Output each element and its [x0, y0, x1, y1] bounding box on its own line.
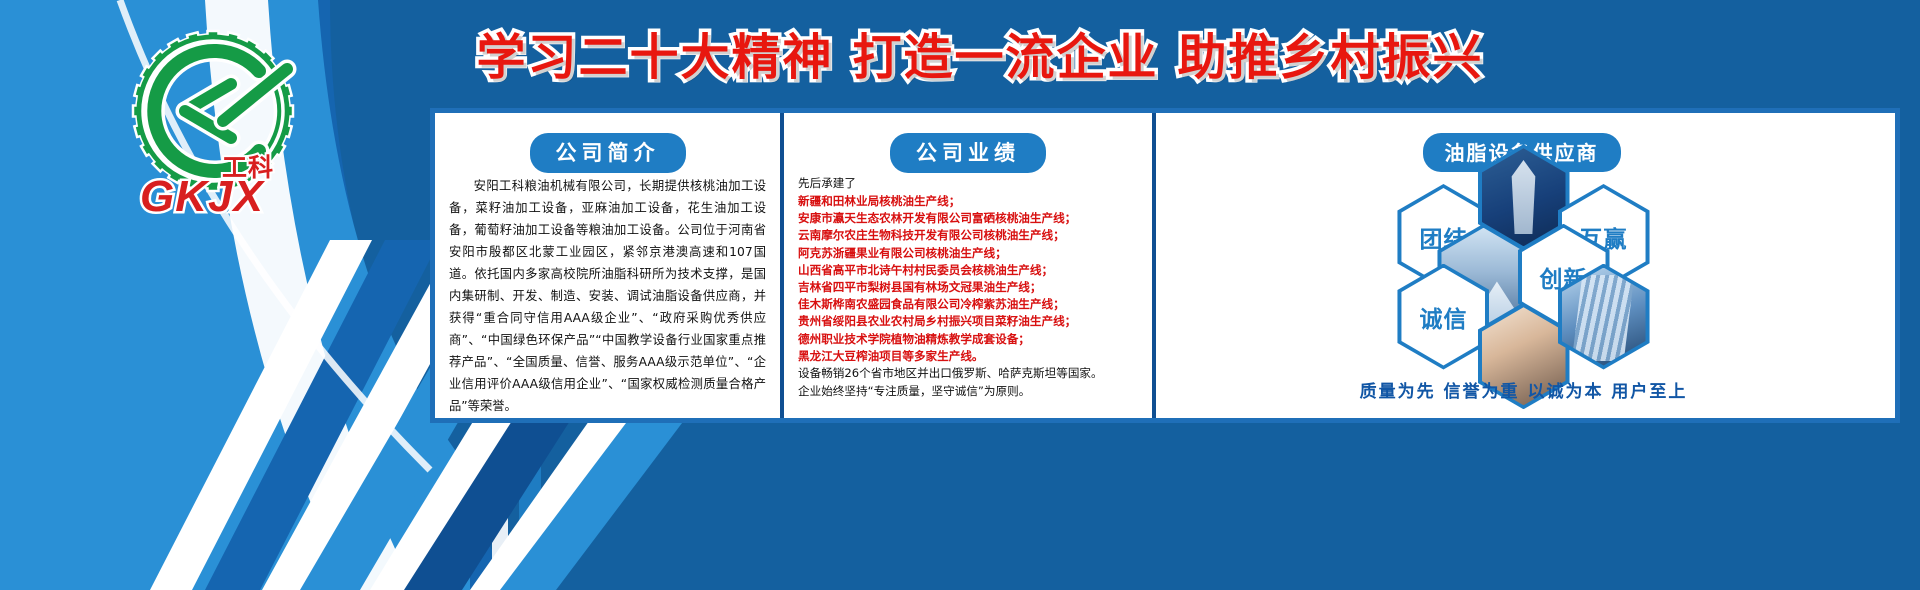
project-item: 德州职业技术学院植物油精炼教学成套设备； [798, 331, 1142, 348]
supplier-slogan: 质量为先 信誉为重 以诚为本 用户至上 [1156, 377, 1891, 402]
project-item: 阿克苏浙疆果业有限公司核桃油生产线； [798, 245, 1142, 262]
panel-title-company-achievements: 公司业绩 [890, 133, 1046, 173]
photo-building [1562, 268, 1646, 366]
poster-canvas: 工科 GKJX 学习二十大精神 打造一流企业 助推乡村振兴 公司简介 安阳工科粮… [0, 0, 1920, 590]
logo-latin-name: GKJX [140, 172, 264, 222]
project-item: 黑龙江大豆榨油项目等多家生产线。 [798, 348, 1142, 365]
panel-company-profile: 公司简介 安阳工科粮油机械有限公司，长期提供核桃油加工设备，菜籽油加工设备，亚麻… [435, 113, 780, 418]
achievements-note-distribution: 设备畅销26个省市地区并出口俄罗斯、哈萨克斯坦等国家。 [798, 365, 1142, 382]
project-item: 安康市瀛天生态农林开发有限公司富硒核桃油生产线； [798, 210, 1142, 227]
panel-title-company-profile: 公司简介 [530, 133, 686, 173]
panel-company-achievements: 公司业绩 先后承建了 新疆和田林业局核桃油生产线；安康市瀛天生态农林开发有限公司… [780, 113, 1152, 418]
company-profile-text: 安阳工科粮油机械有限公司，长期提供核桃油加工设备，菜籽油加工设备，亚麻油加工设备… [449, 175, 766, 417]
poster-headline: 学习二十大精神 打造一流企业 助推乡村振兴 [420, 18, 1540, 89]
hexagon-honeycomb: 团结 互赢 创新 诚信 [1156, 168, 1891, 368]
panel-supplier-values: 油脂设备供应商 团结 互赢 创新 诚信 [1152, 113, 1887, 418]
achievements-project-list: 新疆和田林业局核桃油生产线；安康市瀛天生态农林开发有限公司富硒核桃油生产线；云南… [798, 193, 1142, 365]
project-item: 新疆和田林业局核桃油生产线； [798, 193, 1142, 210]
project-item: 吉林省四平市梨树县国有林场文冠果油生产线； [798, 279, 1142, 296]
achievements-note-principle: 企业始终坚持“专注质量，坚守诚信”为原则。 [798, 383, 1142, 400]
hex-label-chengxin: 诚信 [1401, 268, 1485, 366]
project-item: 贵州省绥阳县农业农村局乡村振兴项目菜籽油生产线； [798, 313, 1142, 330]
achievements-lead: 先后承建了 [798, 175, 856, 192]
project-item: 山西省高平市北诗午村村民委员会核桃油生产线； [798, 262, 1142, 279]
content-board: 公司简介 安阳工科粮油机械有限公司，长期提供核桃油加工设备，菜籽油加工设备，亚麻… [430, 108, 1900, 423]
project-item: 云南摩尔农庄生物科技开发有限公司核桃油生产线； [798, 227, 1142, 244]
project-item: 佳木斯桦南农盛园食品有限公司冷榨紫苏油生产线； [798, 296, 1142, 313]
